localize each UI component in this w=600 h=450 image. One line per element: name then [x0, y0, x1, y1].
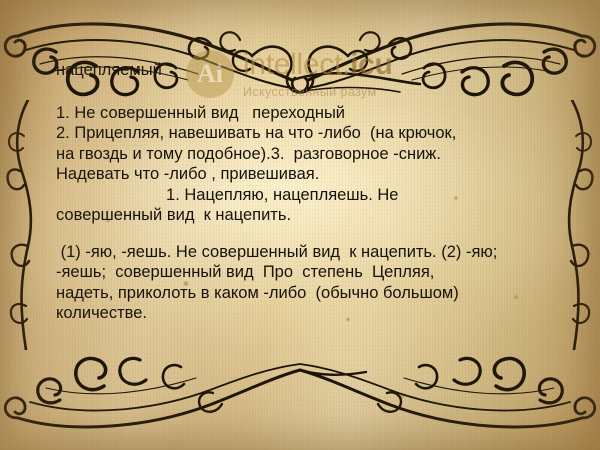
senses-paragraph: 1. Не совершенный вид переходный 2. Приц… — [56, 103, 558, 185]
forms-paragraph: (1) -яю, -яешь. Не совершенный вид к нац… — [56, 242, 558, 324]
entry-content: нацепляемый 1. Не совершенный вид перехо… — [56, 60, 558, 324]
dictionary-card: Ai intellect.icu Искусственный разум нац… — [0, 0, 600, 450]
ornament-bottom-border — [0, 352, 600, 448]
headword: нацепляемый — [56, 60, 558, 81]
ornament-left-border — [4, 100, 48, 350]
ornament-right-border — [552, 100, 596, 350]
conjugation-paragraph: 1. Нацепляю, нацепляешь. Не совершенный … — [56, 185, 558, 226]
